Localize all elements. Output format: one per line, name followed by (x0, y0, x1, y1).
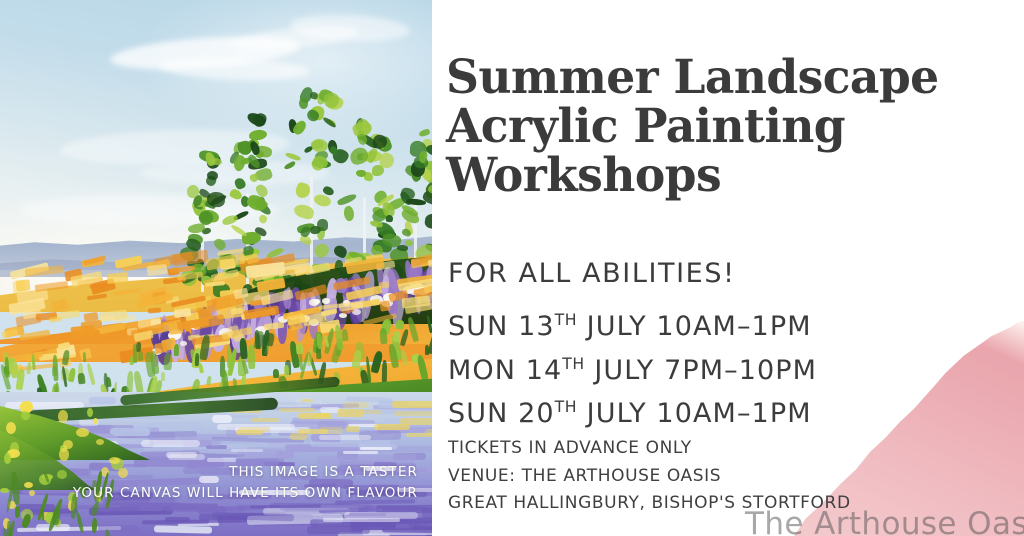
brush-stroke (82, 352, 86, 363)
brush-stroke (301, 399, 313, 402)
brush-stroke (396, 319, 404, 328)
brush-stroke (276, 451, 294, 459)
brush-stroke (4, 453, 11, 464)
brush-stroke (425, 345, 429, 355)
brush-stroke (68, 367, 77, 382)
brush-stroke (21, 411, 30, 420)
brush-stroke (15, 279, 30, 292)
brush-stroke (343, 402, 369, 408)
landscape-painting-image: THIS IMAGE IS A TASTER YOUR CANVAS WILL … (0, 0, 432, 536)
date-prefix: SUN 13 (448, 311, 555, 342)
brush-stroke (379, 300, 391, 311)
brush-stroke (141, 440, 200, 446)
image-caption: THIS IMAGE IS A TASTER YOUR CANVAS WILL … (73, 462, 418, 504)
brush-stroke (314, 299, 321, 304)
brush-stroke (405, 240, 413, 246)
brush-stroke (87, 363, 97, 386)
brush-stroke (133, 344, 137, 363)
brush-stroke (262, 335, 268, 356)
brush-stroke (154, 525, 212, 533)
brush-stroke (379, 281, 390, 288)
date-suffix: JULY 10AM–1PM (577, 311, 812, 342)
brush-stroke (77, 372, 85, 383)
brush-stroke (422, 507, 432, 517)
brush-stroke (106, 377, 112, 387)
brush-stroke (323, 518, 400, 522)
detail-tickets: TICKETS IN ADVANCE ONLY (448, 435, 1023, 463)
brush-stroke (164, 353, 173, 370)
brush-stroke (346, 426, 360, 432)
brush-stroke (284, 365, 289, 377)
brush-stroke (392, 401, 432, 408)
brush-stroke (161, 372, 165, 381)
brush-stroke (6, 422, 16, 434)
brush-stroke (343, 451, 378, 454)
page-title: Summer Landscape Acrylic Painting Worksh… (446, 54, 1009, 201)
title-line-3: Workshops (446, 152, 1009, 201)
subtitle: FOR ALL ABILITIES! (448, 258, 736, 289)
brush-stroke (319, 435, 372, 440)
brush-stroke (180, 341, 187, 346)
brush-stroke (24, 482, 33, 488)
poster-canvas: THIS IMAGE IS A TASTER YOUR CANVAS WILL … (0, 0, 1024, 536)
brush-stroke (238, 427, 270, 432)
brush-stroke (148, 307, 161, 313)
title-line-1: Summer Landscape (446, 54, 1009, 103)
brush-stroke (142, 519, 209, 524)
brush-stroke (251, 418, 279, 422)
brush-stroke (93, 418, 98, 424)
date-line: MON 14TH JULY 7PM–10PM (448, 349, 1018, 393)
brush-stroke (166, 452, 197, 457)
brush-stroke (0, 488, 9, 493)
brush-stroke (96, 439, 104, 445)
brush-stroke (89, 397, 116, 404)
brush-stroke (248, 345, 255, 370)
date-ordinal: TH (562, 354, 584, 373)
workshop-dates-list: SUN 13TH JULY 10AM–1PM MON 14TH JULY 7PM… (448, 305, 1018, 436)
brush-stroke (290, 433, 307, 439)
brush-stroke (406, 433, 432, 437)
brush-stroke (307, 526, 370, 534)
brush-stroke (106, 272, 128, 284)
brush-stroke (272, 369, 279, 378)
date-prefix: MON 14 (448, 355, 562, 386)
date-line: SUN 20TH JULY 10AM–1PM (448, 392, 1018, 436)
brush-stroke (400, 418, 432, 425)
brush-stroke (110, 428, 150, 436)
brush-stroke (207, 458, 237, 461)
date-ordinal: TH (555, 397, 577, 416)
caption-line-2: YOUR CANVAS WILL HAVE ITS OWN FLAVOUR (73, 485, 418, 501)
brush-stroke (298, 429, 328, 434)
brush-stroke (63, 440, 73, 449)
brush-stroke (295, 342, 303, 354)
brush-stroke (198, 362, 205, 373)
brand-watermark: The Arthouse Oasis (745, 506, 1024, 536)
brush-stroke (298, 413, 331, 419)
date-ordinal: TH (555, 310, 577, 329)
detail-venue: VENUE: THE ARTHOUSE OASIS (448, 463, 1023, 491)
date-prefix: SUN 20 (448, 398, 555, 429)
brush-stroke (49, 316, 63, 323)
caption-line-1: THIS IMAGE IS A TASTER (229, 464, 418, 480)
brush-stroke (360, 447, 392, 451)
brush-stroke (322, 298, 330, 303)
date-line: SUN 13TH JULY 10AM–1PM (448, 305, 1018, 349)
brush-stroke (87, 408, 93, 418)
brush-stroke (100, 315, 115, 321)
brush-stroke (361, 410, 383, 414)
title-line-2: Acrylic Painting (446, 103, 1009, 152)
brush-stroke (59, 448, 68, 460)
brush-stroke (212, 415, 232, 423)
brush-stroke (231, 449, 263, 453)
date-suffix: JULY 10AM–1PM (577, 398, 812, 429)
info-panel: Summer Landscape Acrylic Painting Worksh… (432, 0, 1024, 536)
date-suffix: JULY 7PM–10PM (585, 355, 817, 386)
brush-stroke (126, 370, 134, 392)
brush-stroke (394, 411, 432, 416)
brush-stroke (97, 524, 138, 532)
brush-stroke (138, 351, 143, 361)
brush-stroke (279, 408, 315, 413)
